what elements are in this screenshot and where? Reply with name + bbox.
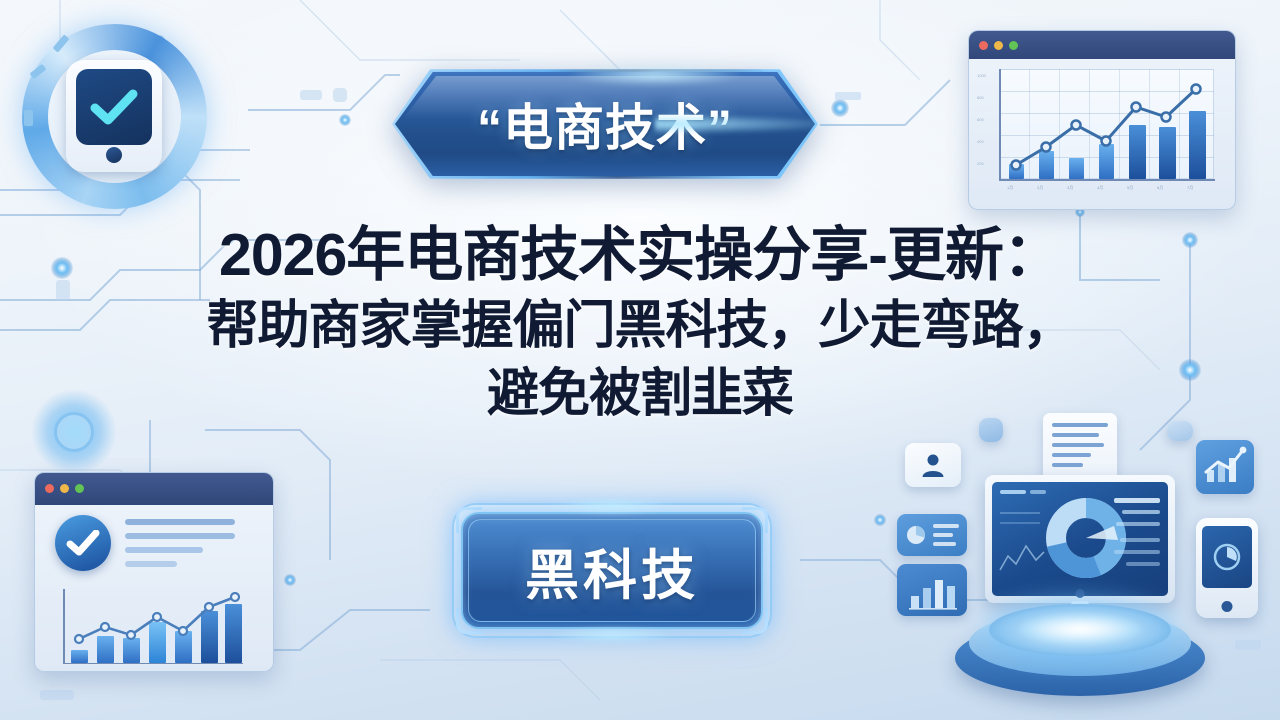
ring-tick (24, 110, 33, 126)
trend-line (63, 589, 245, 665)
poster-canvas: 1000 800 600 400 200 (0, 0, 1280, 720)
report-body (35, 505, 273, 671)
cta-label: 黑科技 (525, 531, 699, 610)
analytics-window[interactable]: 1000 800 600 400 200 (968, 30, 1236, 210)
certified-device-badge (22, 24, 207, 209)
text-line (125, 519, 235, 525)
check-circle-icon (55, 515, 111, 571)
device-home-button (106, 147, 122, 163)
maximize-dot-icon[interactable] (1009, 41, 1018, 50)
window-title-bar (969, 31, 1235, 59)
banner-body: “电商技术” (395, 72, 815, 176)
monitor-screen (992, 482, 1168, 596)
monitor-donut-chart-icon (985, 475, 1175, 603)
headline-line-3: 避免被割韭菜 (0, 360, 1280, 428)
headline-line-1: 2026年电商技术实操分享-更新： (0, 218, 1280, 292)
minimize-dot-icon[interactable] (994, 41, 1003, 50)
banner-label: “电商技术” (477, 88, 733, 160)
minimize-dot-icon[interactable] (60, 484, 69, 493)
holo-platform (955, 600, 1205, 696)
report-window[interactable] (34, 472, 274, 672)
trend-up-card-icon (1196, 440, 1254, 494)
cta-flare-bottom (547, 626, 677, 644)
monitor-frame (985, 475, 1175, 603)
window-title-bar (35, 473, 273, 505)
close-dot-icon[interactable] (45, 484, 54, 493)
text-line (125, 561, 177, 567)
check-icon (89, 87, 139, 127)
headline-line-2: 帮助商家掌握偏门黑科技，少走弯路， (0, 292, 1280, 360)
text-line (125, 547, 203, 553)
phone-home-button (1222, 601, 1233, 612)
cta-inner-frame: 黑科技 (468, 519, 756, 622)
smartphone-icon (1196, 518, 1258, 618)
category-banner[interactable]: “电商技术” (395, 72, 815, 176)
cta-flare-top (547, 497, 677, 515)
headline-block: 2026年电商技术实操分享-更新： 帮助商家掌握偏门黑科技，少走弯路， 避免被割… (0, 218, 1280, 428)
text-line (125, 533, 235, 539)
device-icon (66, 60, 162, 172)
analytics-chart: 1000 800 600 400 200 (969, 59, 1235, 209)
maximize-dot-icon[interactable] (75, 484, 84, 493)
user-avatar-icon (905, 443, 961, 487)
trend-line (999, 69, 1214, 181)
monitor-led (1076, 589, 1085, 598)
phone-screen (1202, 526, 1252, 588)
device-screen (76, 69, 152, 145)
pie-chart-card-icon (897, 514, 967, 556)
donut-chart (1044, 496, 1128, 580)
cta-chip[interactable]: 黑科技 (452, 503, 772, 638)
close-dot-icon[interactable] (979, 41, 988, 50)
